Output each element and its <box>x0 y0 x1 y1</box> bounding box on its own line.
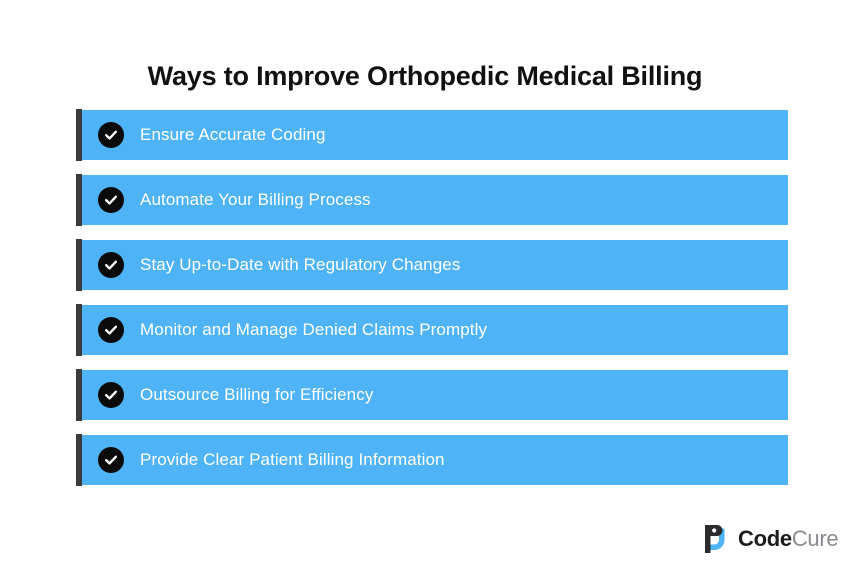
row-bar: Ensure Accurate Coding <box>82 110 788 160</box>
list-item: Ensure Accurate Coding <box>76 110 788 160</box>
page-title-container: Ways to Improve Orthopedic Medical Billi… <box>0 38 850 114</box>
logo-name-bold: Code <box>738 526 792 551</box>
list-item-label: Outsource Billing for Efficiency <box>140 385 373 405</box>
check-circle-icon <box>98 317 124 343</box>
list-item-label: Monitor and Manage Denied Claims Promptl… <box>140 320 487 340</box>
infographic-page: Ways to Improve Orthopedic Medical Billi… <box>0 0 850 581</box>
check-circle-icon <box>98 447 124 473</box>
row-bar: Provide Clear Patient Billing Informatio… <box>82 435 788 485</box>
list-item: Monitor and Manage Denied Claims Promptl… <box>76 305 788 355</box>
list-item-label: Automate Your Billing Process <box>140 190 371 210</box>
list-item: Outsource Billing for Efficiency <box>76 370 788 420</box>
check-circle-icon <box>98 252 124 278</box>
codecure-logo: CodeCure <box>700 518 838 560</box>
row-bar: Stay Up-to-Date with Regulatory Changes <box>82 240 788 290</box>
list-item-label: Provide Clear Patient Billing Informatio… <box>140 450 445 470</box>
row-bar: Automate Your Billing Process <box>82 175 788 225</box>
list-item-label: Stay Up-to-Date with Regulatory Changes <box>140 255 460 275</box>
check-circle-icon <box>98 382 124 408</box>
check-circle-icon <box>98 122 124 148</box>
row-bar: Monitor and Manage Denied Claims Promptl… <box>82 305 788 355</box>
page-title: Ways to Improve Orthopedic Medical Billi… <box>148 56 703 96</box>
list-item: Provide Clear Patient Billing Informatio… <box>76 435 788 485</box>
logo-name-light: Cure <box>792 526 839 551</box>
check-circle-icon <box>98 187 124 213</box>
codecure-logo-mark <box>700 522 734 556</box>
list-item-label: Ensure Accurate Coding <box>140 125 326 145</box>
tips-list: Ensure Accurate Coding Automate Your Bil… <box>76 110 788 485</box>
row-bar: Outsource Billing for Efficiency <box>82 370 788 420</box>
list-item: Automate Your Billing Process <box>76 175 788 225</box>
codecure-logo-text: CodeCure <box>738 528 838 550</box>
list-item: Stay Up-to-Date with Regulatory Changes <box>76 240 788 290</box>
